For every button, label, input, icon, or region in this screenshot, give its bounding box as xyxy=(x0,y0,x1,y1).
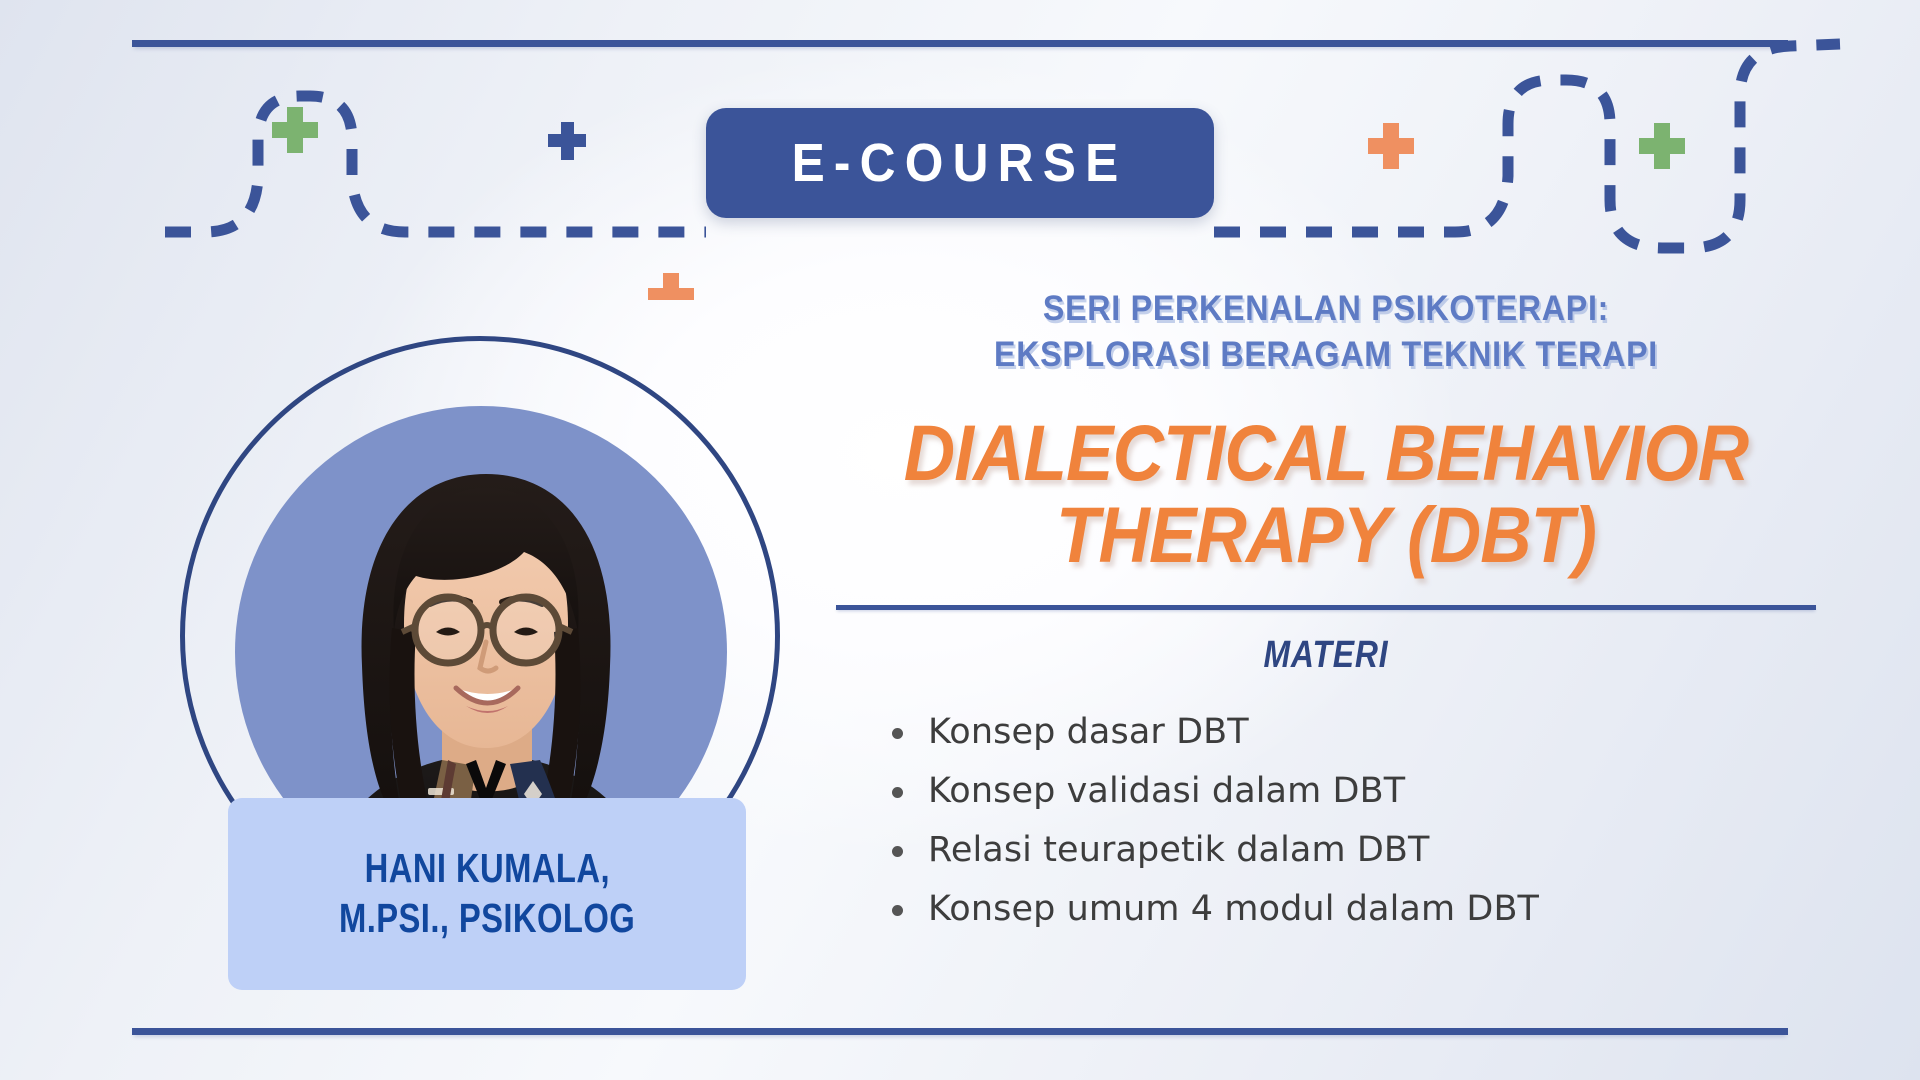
subtitle-line2: EKSPLORASI BERAGAM TEKNIK TERAPI xyxy=(875,332,1777,378)
course-info-column: SERI PERKENALAN PSIKOTERAPI: EKSPLORASI … xyxy=(836,286,1816,951)
list-item: Konsep dasar DBT xyxy=(888,715,1816,750)
course-title: DIALECTICAL BEHAVIOR THERAPY (DBT) xyxy=(836,412,1816,575)
subtitle-line1: SERI PERKENALAN PSIKOTERAPI: xyxy=(875,286,1777,332)
e-course-badge-label: E-COURSE xyxy=(792,136,1128,190)
materi-heading: MATERI xyxy=(914,634,1737,677)
list-item: Konsep umum 4 modul dalam DBT xyxy=(888,892,1816,927)
materi-list: Konsep dasar DBT Konsep validasi dalam D… xyxy=(888,715,1816,927)
plus-icon-orange-right xyxy=(1368,123,1414,169)
flyer-canvas: E-COURSE xyxy=(0,0,1920,1080)
presenter-name-line2: M.PSI., PSIKOLOG xyxy=(339,896,635,942)
bottom-divider-rule xyxy=(132,1028,1788,1035)
plus-icon-navy-mid xyxy=(548,122,586,160)
course-series-subtitle: SERI PERKENALAN PSIKOTERAPI: EKSPLORASI … xyxy=(836,286,1816,378)
list-item: Konsep validasi dalam DBT xyxy=(888,774,1816,809)
presenter-name-line1: HANI KUMALA, xyxy=(364,846,609,892)
course-title-line1: DIALECTICAL BEHAVIOR xyxy=(885,412,1767,493)
plus-icon-green-left xyxy=(272,107,318,153)
presenter-nameplate: HANI KUMALA, M.PSI., PSIKOLOG xyxy=(228,798,746,990)
plus-icon-orange-below xyxy=(648,273,694,300)
materi-divider-rule xyxy=(836,605,1816,610)
course-title-line2: THERAPY (DBT) xyxy=(885,494,1767,575)
plus-icon-green-right xyxy=(1639,123,1685,169)
list-item: Relasi teurapetik dalam DBT xyxy=(888,833,1816,868)
e-course-badge: E-COURSE xyxy=(706,108,1214,218)
